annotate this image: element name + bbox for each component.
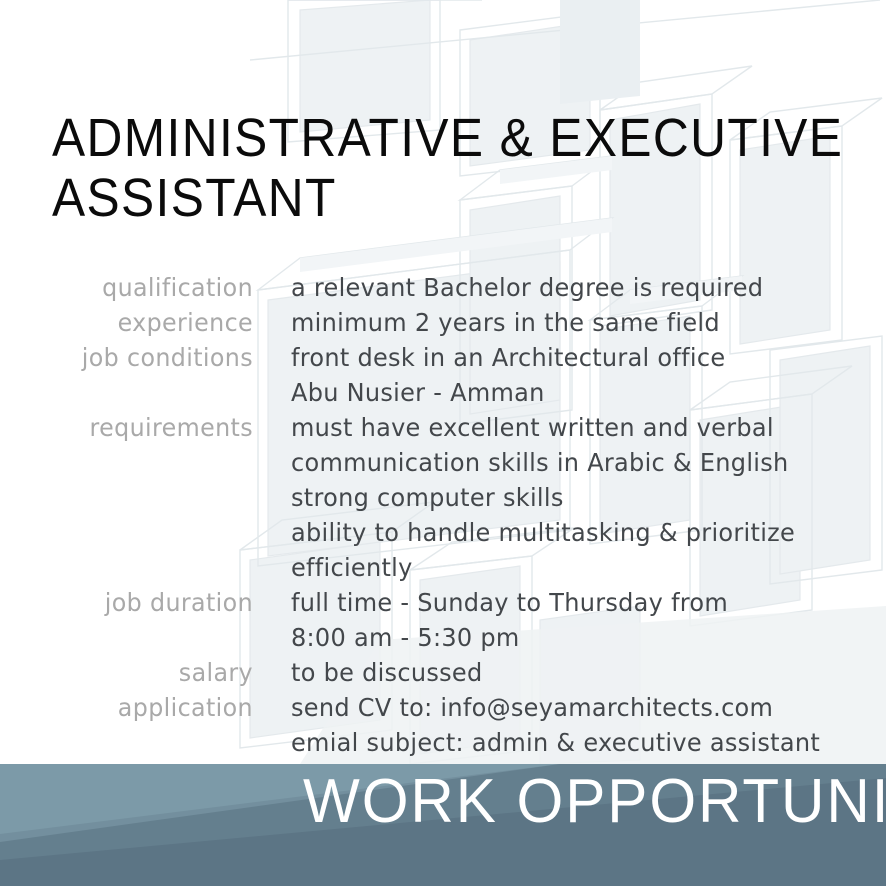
detail-value-line: a relevant Bachelor degree is required [291,270,862,305]
detail-values: to be discussed [253,655,886,690]
detail-row: job durationfull time - Sunday to Thursd… [0,585,886,655]
detail-value-line: ability to handle multitasking & priorit… [291,515,862,550]
title-line-1: ADMINISTRATIVE & EXECUTIVE [52,108,733,168]
detail-row: qualificationa relevant Bachelor degree … [0,270,886,305]
detail-value-line: to be discussed [291,655,862,690]
detail-values: front desk in an Architectural officeAbu… [253,340,886,410]
detail-row: requirementsmust have excellent written … [0,410,886,585]
detail-value-line: 8:00 am - 5:30 pm [291,620,862,655]
detail-value-line: Abu Nusier - Amman [291,375,862,410]
detail-row: job conditionsfront desk in an Architect… [0,340,886,410]
title-line-2: ASSISTANT [52,168,733,228]
detail-values: full time - Sunday to Thursday from8:00 … [253,585,886,655]
detail-row: applicationsend CV to: info@seyamarchite… [0,690,886,760]
detail-value-line: full time - Sunday to Thursday from [291,585,862,620]
detail-value-line: send CV to: info@seyamarchitects.com [291,690,862,725]
detail-value-line: strong computer skills [291,480,862,515]
detail-value-line: communication skills in Arabic & English [291,445,862,480]
detail-values: must have excellent written and verbalco… [253,410,886,585]
detail-label: salary [13,655,253,690]
detail-label: job conditions [13,340,253,375]
detail-label: experience [13,305,253,340]
detail-label: job duration [13,585,253,620]
detail-value-line: efficiently [291,550,862,585]
detail-value-line: front desk in an Architectural office [291,340,862,375]
detail-row: experienceminimum 2 years in the same fi… [0,305,886,340]
detail-values: minimum 2 years in the same field [253,305,886,340]
detail-label: qualification [13,270,253,305]
detail-label: application [13,690,253,725]
detail-value-line: must have excellent written and verbal [291,410,862,445]
detail-values: send CV to: info@seyamarchitects.comemia… [253,690,886,760]
page-title: ADMINISTRATIVE & EXECUTIVE ASSISTANT [52,108,792,228]
detail-value-line: emial subject: admin & executive assista… [291,725,862,760]
detail-label: requirements [13,410,253,445]
bottom-banner: WORK OPPORTUNITY [0,764,886,886]
job-details-list: qualificationa relevant Bachelor degree … [0,270,886,760]
detail-values: a relevant Bachelor degree is required [253,270,886,305]
detail-value-line: minimum 2 years in the same field [291,305,862,340]
banner-title: WORK OPPORTUNITY [303,768,886,836]
job-posting-poster: ADMINISTRATIVE & EXECUTIVE ASSISTANT qua… [0,0,886,886]
detail-row: salaryto be discussed [0,655,886,690]
